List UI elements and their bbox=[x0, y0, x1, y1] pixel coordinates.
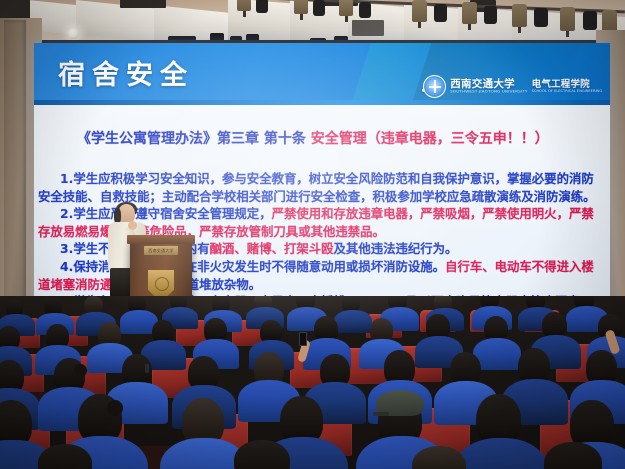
stage-spotlight-icon bbox=[237, 0, 251, 11]
university-logo: 西南交通大学 SOUTHWEST JIAOTONG UNIVERSITY 电气工… bbox=[423, 75, 602, 98]
slide-heading-blue: 《学生公寓管理办法》第三章 第十条 bbox=[77, 131, 311, 147]
slide-item-text: 及其他违法违纪行为。 bbox=[334, 241, 458, 256]
slide-item-number: 3. bbox=[60, 241, 73, 256]
stage-spotlight-icon bbox=[412, 0, 427, 22]
slide-heading: 《学生公寓管理办法》第三章 第十条 安全管理（违章电器，三令五申！！） bbox=[38, 109, 606, 169]
podium-nameplate: 西南交通大学 bbox=[144, 246, 178, 255]
slide-item-number: 1. bbox=[60, 171, 73, 186]
audience-seating bbox=[0, 296, 625, 469]
slide-item-number: 4. bbox=[60, 259, 73, 274]
stage-spotlight-icon bbox=[339, 0, 353, 16]
slide-item-text: 酗酒、赌博、打架斗殴 bbox=[210, 241, 334, 256]
university-name-block: 西南交通大学 SOUTHWEST JIAOTONG UNIVERSITY bbox=[450, 79, 527, 94]
slide-heading-red: 安全管理（违章电器，三令五申！！） bbox=[311, 131, 549, 147]
baseball-cap-icon bbox=[376, 390, 424, 416]
department-name-en: SCHOOL OF ELECTRICAL ENGINEERING bbox=[532, 90, 602, 94]
podium-top-surface bbox=[127, 235, 195, 244]
university-name-en: SOUTHWEST JIAOTONG UNIVERSITY bbox=[450, 90, 527, 94]
university-seal-icon bbox=[423, 75, 446, 98]
stage-spotlight-icon bbox=[560, 7, 575, 31]
slide-item: 1.学生应积极学习安全知识，参与安全教育，树立安全风险防范和自我保护意识，掌握必… bbox=[38, 170, 606, 205]
presenter-hand bbox=[128, 221, 137, 230]
stage-spotlight-icon bbox=[294, 0, 308, 14]
smartphone-icon bbox=[299, 332, 307, 346]
slide-title: 宿舍安全 bbox=[58, 53, 194, 92]
stage-spotlight-icon bbox=[512, 4, 527, 27]
slide-item-number: 2. bbox=[60, 206, 73, 221]
stage-spotlight-icon bbox=[462, 2, 477, 24]
ceiling-downlight-icon bbox=[68, 28, 79, 39]
department-name-block: 电气工程学院 SCHOOL OF ELECTRICAL ENGINEERING bbox=[532, 80, 602, 94]
slide-header: 宿舍安全 < 西南交通大学 SOUTHWEST JIAOTONG UNIVERS… bbox=[34, 43, 610, 105]
lecture-hall-photo: 宿舍安全 < 西南交通大学 SOUTHWEST JIAOTONG UNIVERS… bbox=[0, 0, 625, 469]
slide-item-text: 学生应积极学习安全知识，参与安全教育，树立安全风险防范和自我保护意识，掌握必要的… bbox=[38, 171, 596, 204]
